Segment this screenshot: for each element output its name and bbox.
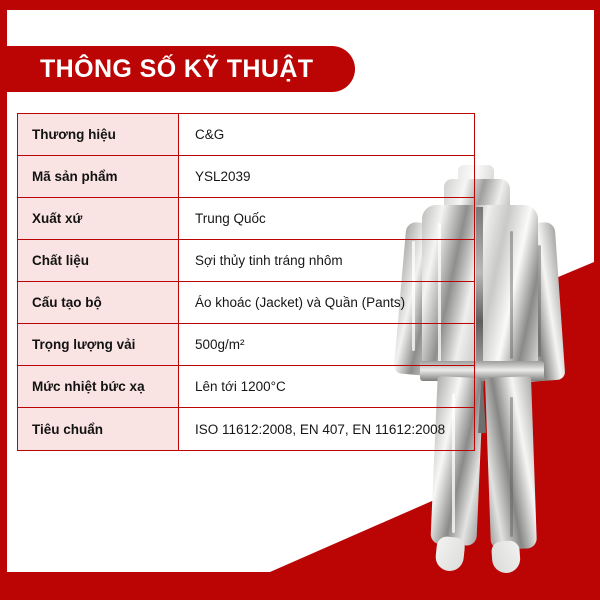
spec-value: Lên tới 1200°C (179, 366, 474, 407)
spec-label: Mức nhiệt bức xạ (18, 366, 179, 407)
spec-value: Áo khoác (Jacket) và Quần (Pants) (179, 282, 474, 323)
table-row: Trọng lượng vải500g/m² (18, 324, 474, 366)
spec-value: Sợi thủy tinh tráng nhôm (179, 240, 474, 281)
spec-label: Chất liệu (18, 240, 179, 281)
bottom-red-wedge (270, 430, 594, 572)
spec-value: 500g/m² (179, 324, 474, 365)
spec-value: C&G (179, 114, 474, 155)
spec-label: Tiêu chuẩn (18, 408, 179, 450)
infographic-frame: THÔNG SỐ KỸ THUẬT Thương hiệuC&GMã sản p… (0, 0, 600, 600)
table-row: Chất liệuSợi thủy tinh tráng nhôm (18, 240, 474, 282)
table-row: Mã sản phẩmYSL2039 (18, 156, 474, 198)
specification-table: Thương hiệuC&GMã sản phẩmYSL2039Xuất xứT… (17, 113, 475, 451)
top-red-band (0, 0, 600, 10)
page-title: THÔNG SỐ KỸ THUẬT (40, 46, 360, 92)
table-row: Tiêu chuẩnISO 11612:2008, EN 407, EN 116… (18, 408, 474, 450)
left-red-band (0, 0, 7, 572)
spec-value: YSL2039 (179, 156, 474, 197)
spec-label: Cấu tạo bộ (18, 282, 179, 323)
spec-label: Mã sản phẩm (18, 156, 179, 197)
right-red-band (594, 0, 600, 572)
table-row: Mức nhiệt bức xạLên tới 1200°C (18, 366, 474, 408)
spec-value: ISO 11612:2008, EN 407, EN 11612:2008 (179, 408, 474, 450)
bottom-red-band (0, 572, 600, 600)
spec-label: Xuất xứ (18, 198, 179, 239)
table-row: Xuất xứTrung Quốc (18, 198, 474, 240)
table-row: Cấu tạo bộÁo khoác (Jacket) và Quần (Pan… (18, 282, 474, 324)
spec-label: Thương hiệu (18, 114, 179, 155)
table-row: Thương hiệuC&G (18, 114, 474, 156)
spec-value: Trung Quốc (179, 198, 474, 239)
spec-label: Trọng lượng vải (18, 324, 179, 365)
